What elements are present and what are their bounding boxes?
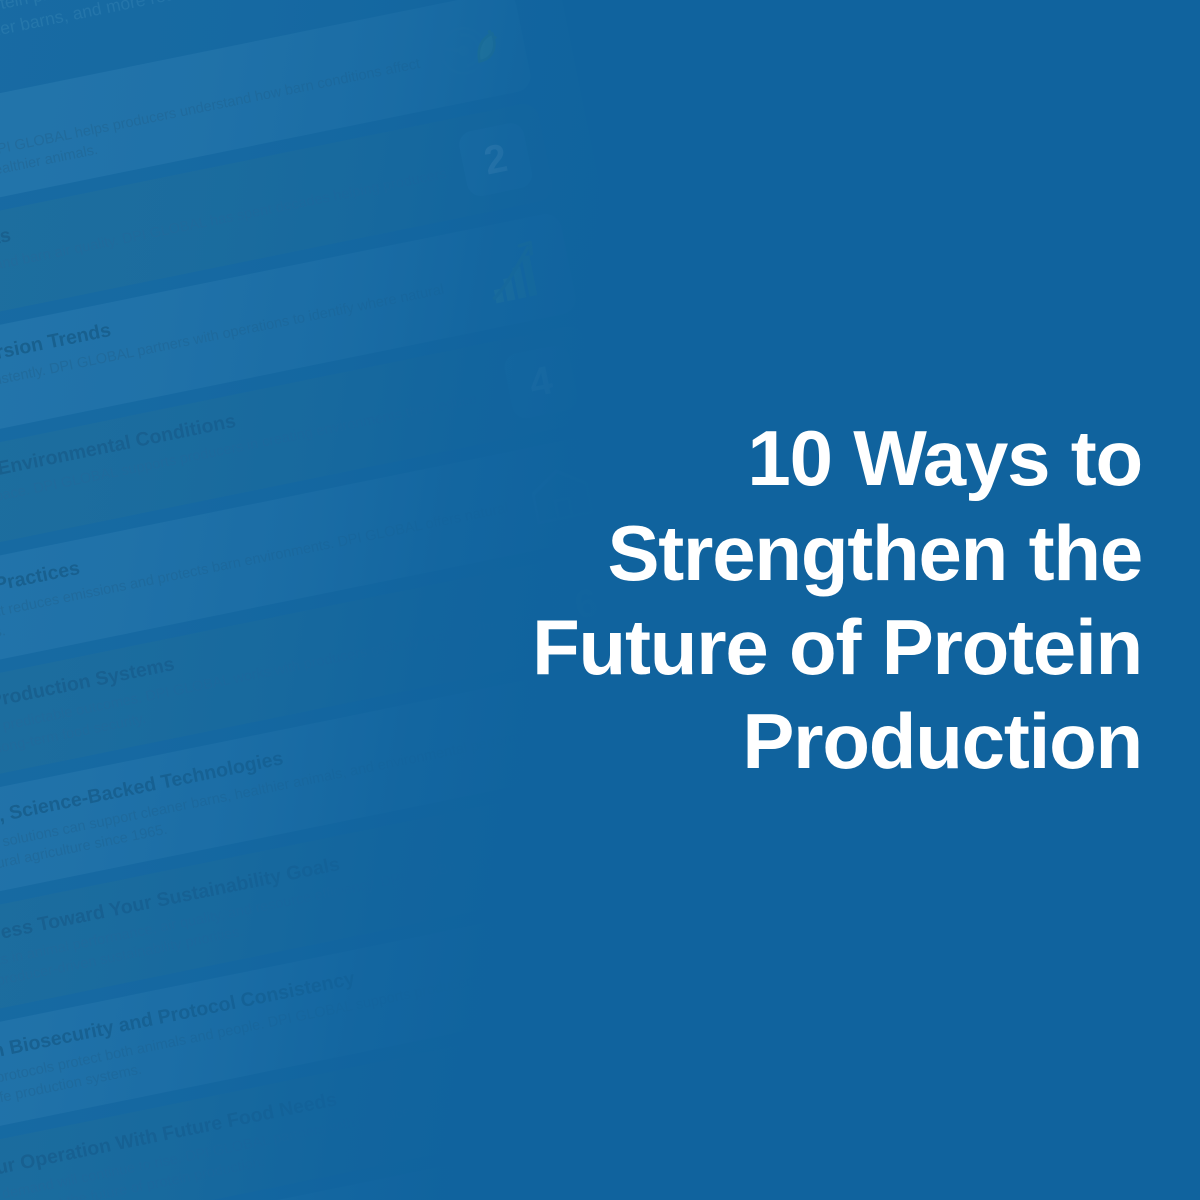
gauge-leaf-icon (428, 7, 513, 92)
title-line-4: Production (742, 697, 1142, 785)
title-line-1: 10 Ways to (747, 414, 1142, 502)
page-title: 10 Ways toStrengthen theFuture of Protei… (532, 411, 1142, 789)
poster-canvas: 10 Ways to Strengthen the Future of Prot… (0, 0, 1200, 1200)
title-line-3: Future of Protein (532, 603, 1142, 691)
title-line-2: Strengthen the (607, 509, 1142, 597)
hero-title-block: 10 Ways toStrengthen theFuture of Protei… (522, 0, 1142, 1200)
